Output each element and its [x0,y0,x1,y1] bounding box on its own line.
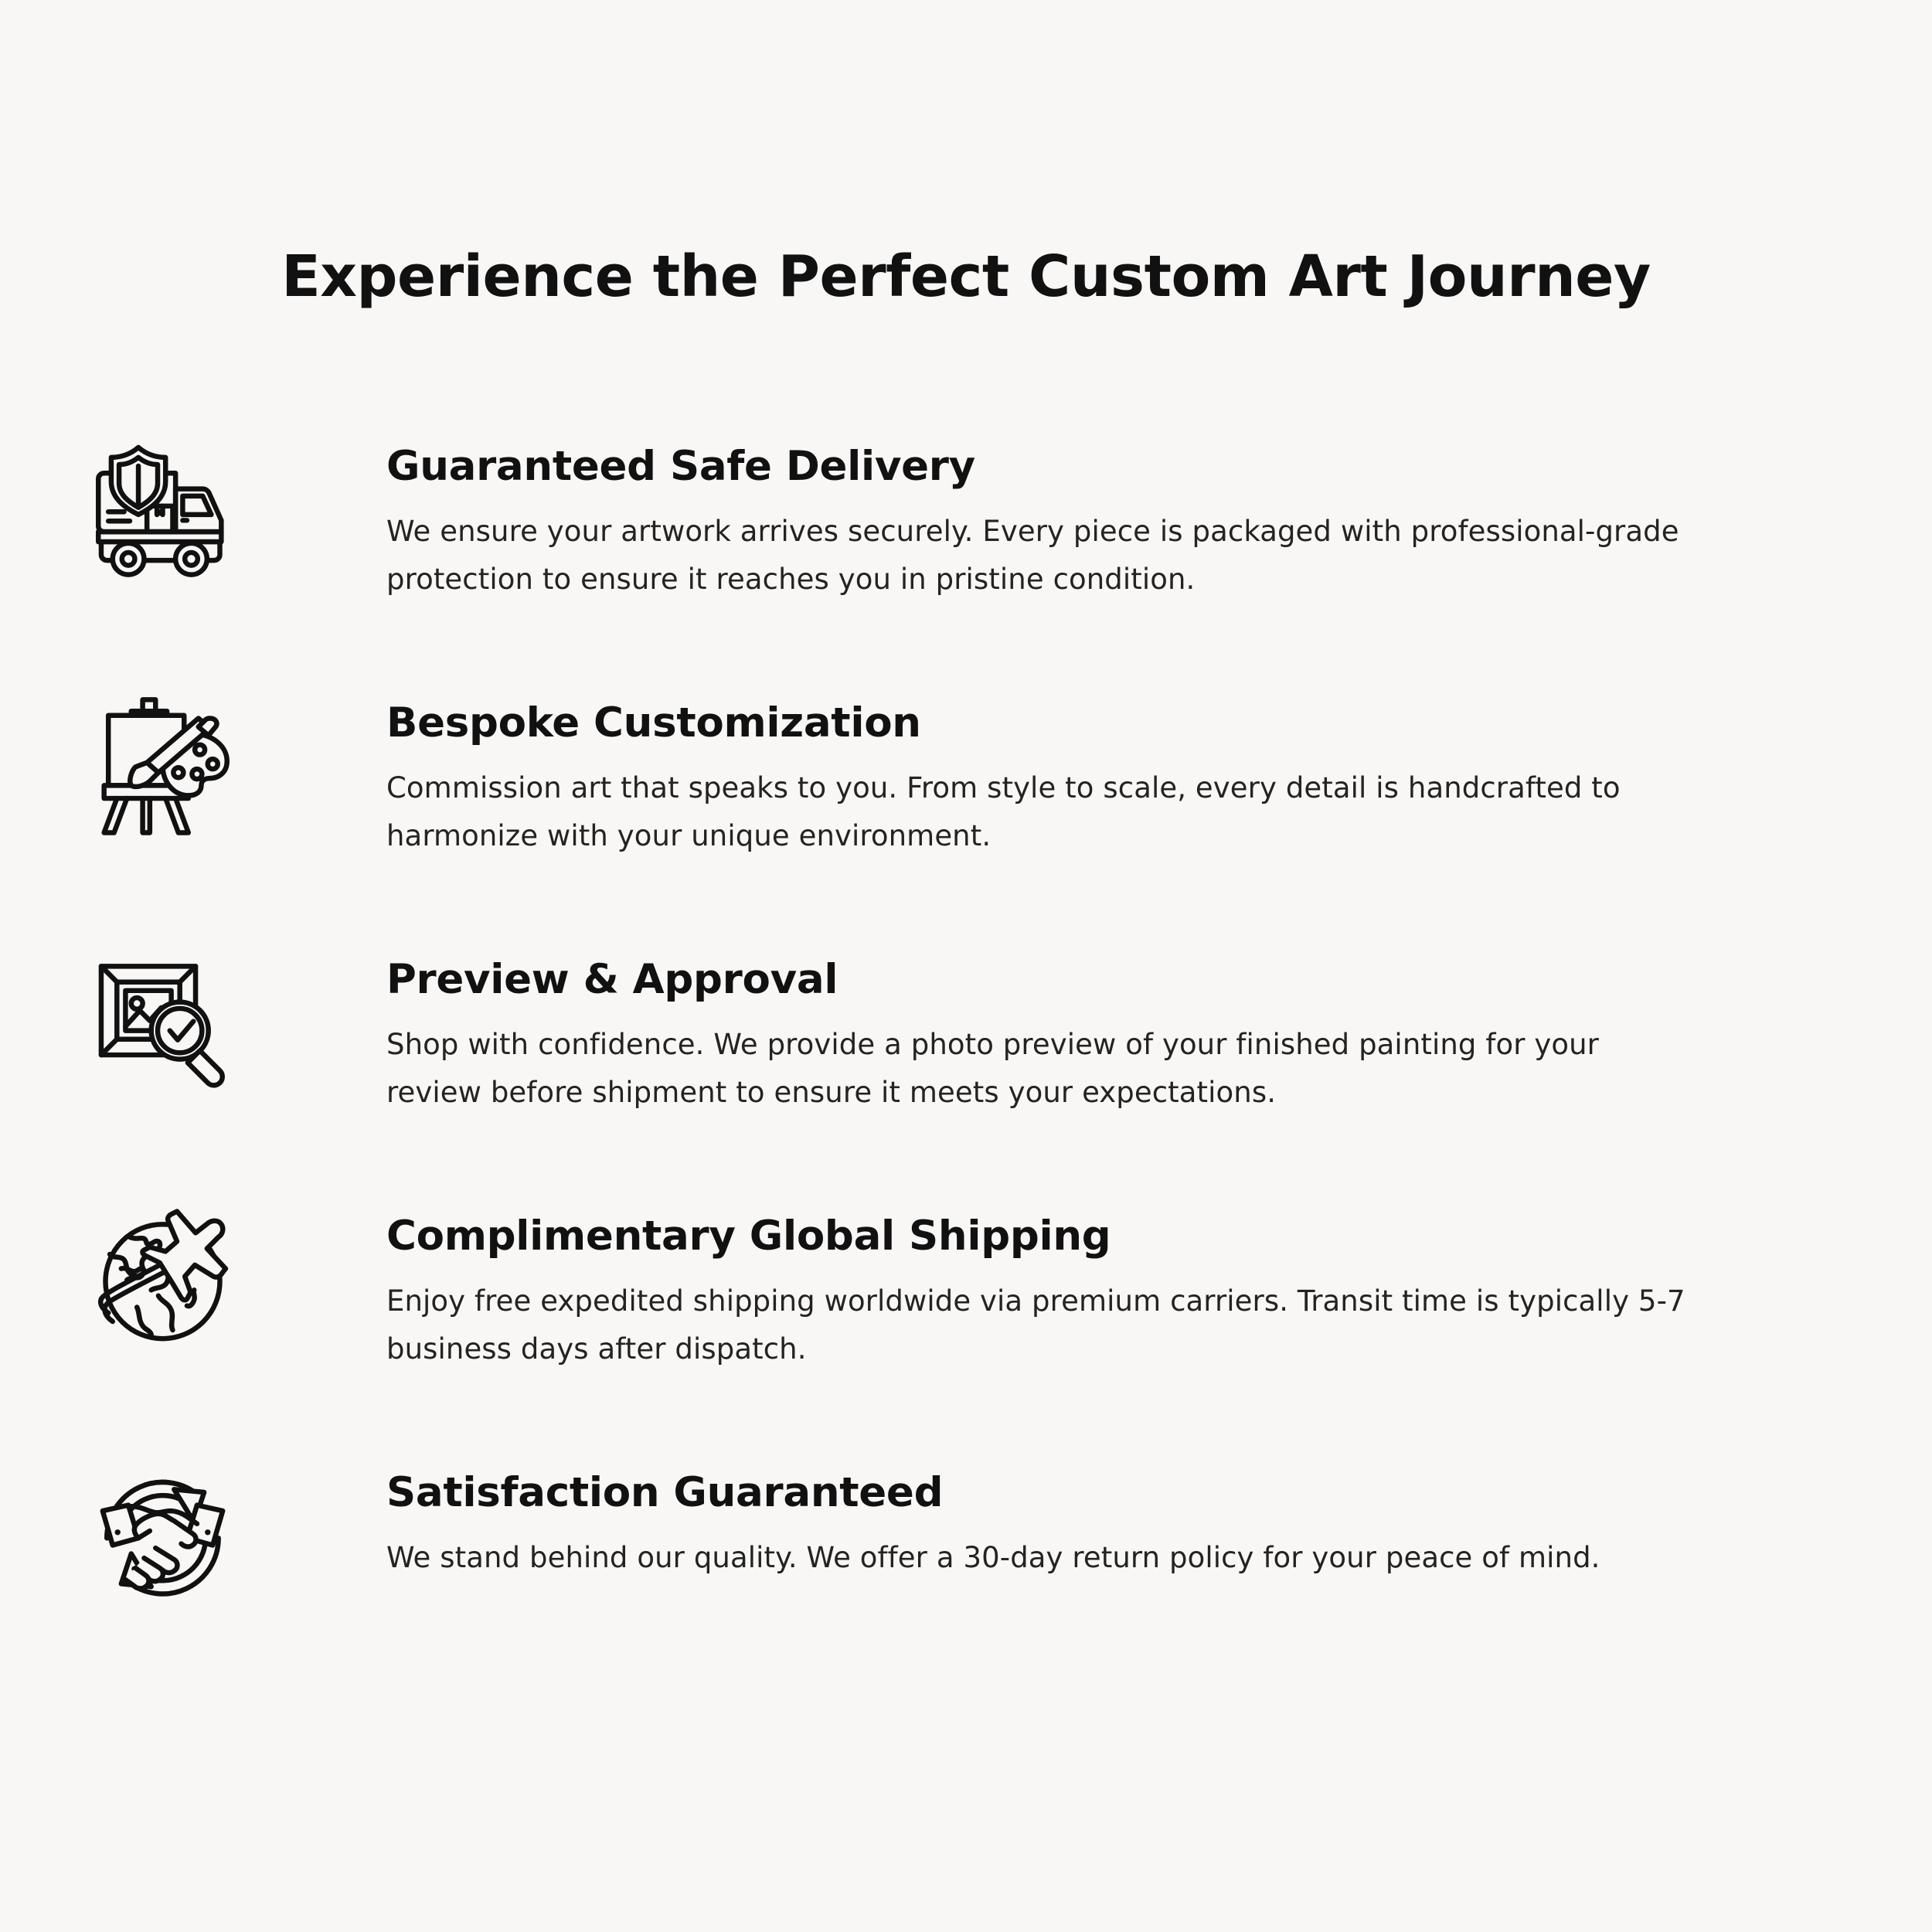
feature-item-satisfaction-guaranteed: Satisfaction Guaranteed We stand behind … [0,1459,1932,1691]
feature-item-safe-delivery: Guaranteed Safe Delivery We ensure your … [0,433,1932,689]
feature-description: Enjoy free expedited shipping worldwide … [386,1277,1699,1373]
feature-item-bespoke-customization: Bespoke Customization Commission art tha… [0,689,1932,946]
feature-list: Guaranteed Safe Delivery We ensure your … [0,433,1932,1691]
feature-title: Bespoke Customization [386,700,1699,747]
feature-text-block: Preview & Approval Shop with confidence.… [246,946,1699,1117]
feature-text-block: Guaranteed Safe Delivery We ensure your … [246,433,1699,604]
feature-text-block: Complimentary Global Shipping Enjoy free… [246,1202,1699,1373]
easel-palette-brush-icon [91,694,246,849]
feature-item-global-shipping: Complimentary Global Shipping Enjoy free… [0,1202,1932,1459]
globe-airplane-icon [91,1207,246,1362]
feature-description: Shop with confidence. We provide a photo… [386,1021,1699,1117]
feature-description: We ensure your artwork arrives securely.… [386,508,1699,604]
feature-title: Satisfaction Guaranteed [386,1470,1699,1517]
feature-text-block: Bespoke Customization Commission art tha… [246,689,1699,860]
feature-description: We stand behind our quality. We offer a … [386,1534,1699,1582]
feature-title: Preview & Approval [386,957,1699,1004]
delivery-truck-shield-icon [91,437,246,592]
feature-title: Complimentary Global Shipping [386,1213,1699,1260]
handshake-refresh-arrows-icon [91,1464,246,1618]
feature-item-preview-approval: Preview & Approval Shop with confidence.… [0,946,1932,1202]
feature-title: Guaranteed Safe Delivery [386,444,1699,491]
framed-picture-magnifier-check-icon [91,951,246,1105]
feature-description: Commission art that speaks to you. From … [386,764,1654,860]
page-title: Experience the Perfect Custom Art Journe… [0,246,1932,308]
features-page: Experience the Perfect Custom Art Journe… [0,0,1932,1932]
feature-text-block: Satisfaction Guaranteed We stand behind … [246,1459,1699,1582]
